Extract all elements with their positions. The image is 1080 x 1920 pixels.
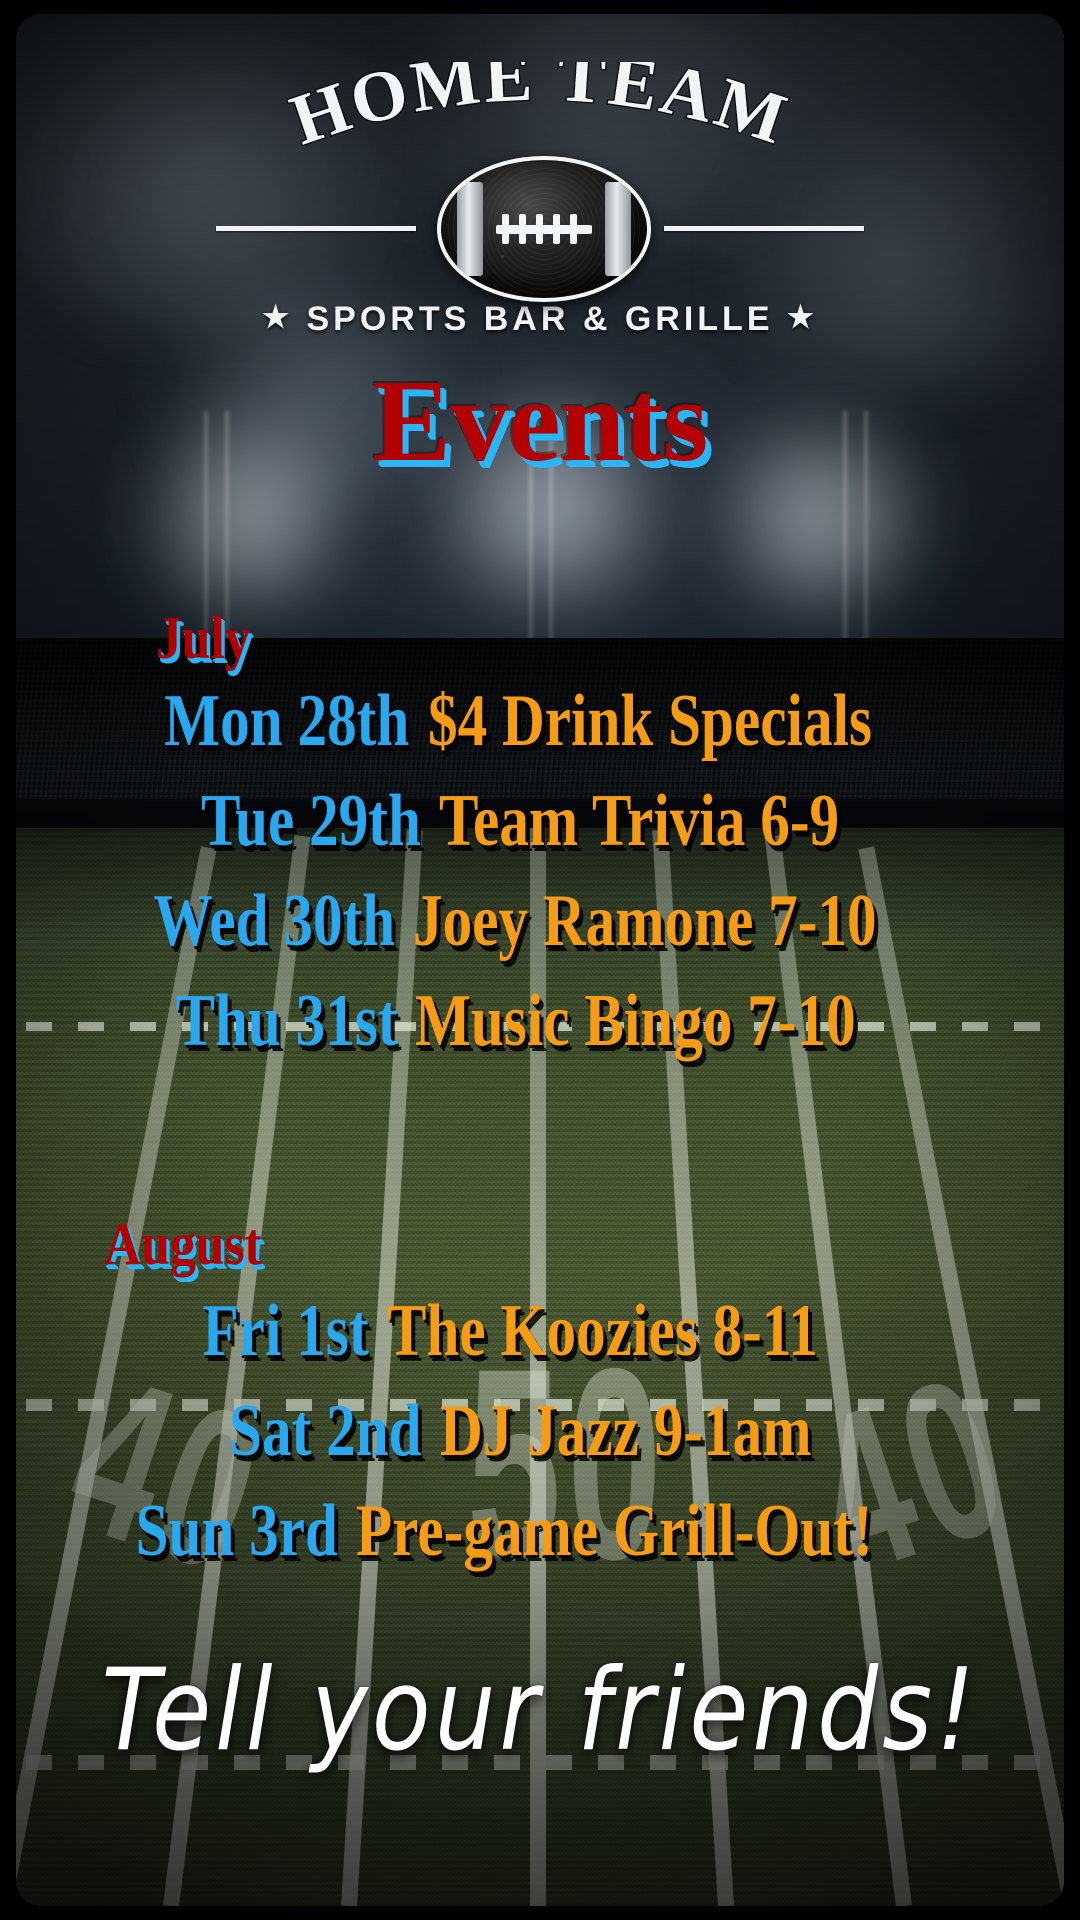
football-emblem [16,148,1064,298]
schedule-row[interactable]: Mon 28th $4 Drink Specials [46,674,1040,768]
poster-canvas: 40 50 40 HOME TEAM [16,14,1064,1906]
divider-rule-right [664,226,864,231]
star-icon: ★ [787,301,818,334]
brand-logo: HOME TEAM [16,62,1064,339]
page-title: Events [16,362,1064,480]
month-header-july: July [156,608,251,668]
call-to-action: Tell your friends! [16,1644,1064,1776]
schedule-row[interactable]: Sat 2nd DJ Jazz 9-1am [46,1384,1040,1478]
event-day: Sat 2nd [230,1394,422,1468]
event-poster: 40 50 40 HOME TEAM [0,0,1080,1920]
schedule-row[interactable]: Tue 29th Team Trivia 6-9 [46,774,1040,868]
football-lace [519,214,526,244]
event-title: $4 Drink Specials [428,684,872,758]
brand-tagline: ★ SPORTS BAR & GRILLE ★ [16,300,1064,339]
schedule-row[interactable]: Thu 31st Music Bingo 7-10 [46,974,1040,1068]
event-day: Tue 29th [201,784,421,858]
football-lace [502,214,509,244]
schedule-row[interactable]: Fri 1st The Koozies 8-11 [46,1284,1040,1378]
month-header-august: August [104,1214,262,1274]
event-day: Mon 28th [165,684,410,758]
football-lace [536,214,543,244]
event-title: Team Trivia 6-9 [439,784,839,858]
schedule-row[interactable]: Sun 3rd Pre-game Grill-Out! [46,1484,1040,1578]
football-end-stripe [605,182,631,276]
divider-rule-left [216,226,416,231]
event-title: Joey Ramone 7-10 [413,884,877,958]
football-lace [553,214,560,244]
brand-name-text: HOME TEAM [281,62,798,158]
event-title: The Koozies 8-11 [387,1294,818,1368]
svg-text:HOME TEAM: HOME TEAM [281,62,798,158]
football-icon [437,156,651,302]
brand-tagline-text: SPORTS BAR & GRILLE [306,300,773,338]
football-lace [570,214,577,244]
event-day: Thu 31st [175,984,397,1058]
event-title: Pre-game Grill-Out! [356,1494,873,1568]
event-day: Sun 3rd [135,1494,337,1568]
football-seam [496,225,592,234]
event-day: Fri 1st [202,1294,368,1368]
poster-content: HOME TEAM [16,14,1064,1906]
brand-name-arc: HOME TEAM [260,62,820,158]
event-title: DJ Jazz 9-1am [440,1394,812,1468]
event-day: Wed 30th [154,884,396,958]
event-title: Music Bingo 7-10 [415,984,856,1058]
star-icon: ★ [262,301,293,334]
schedule-row[interactable]: Wed 30th Joey Ramone 7-10 [46,874,1040,968]
football-end-stripe [457,182,483,276]
